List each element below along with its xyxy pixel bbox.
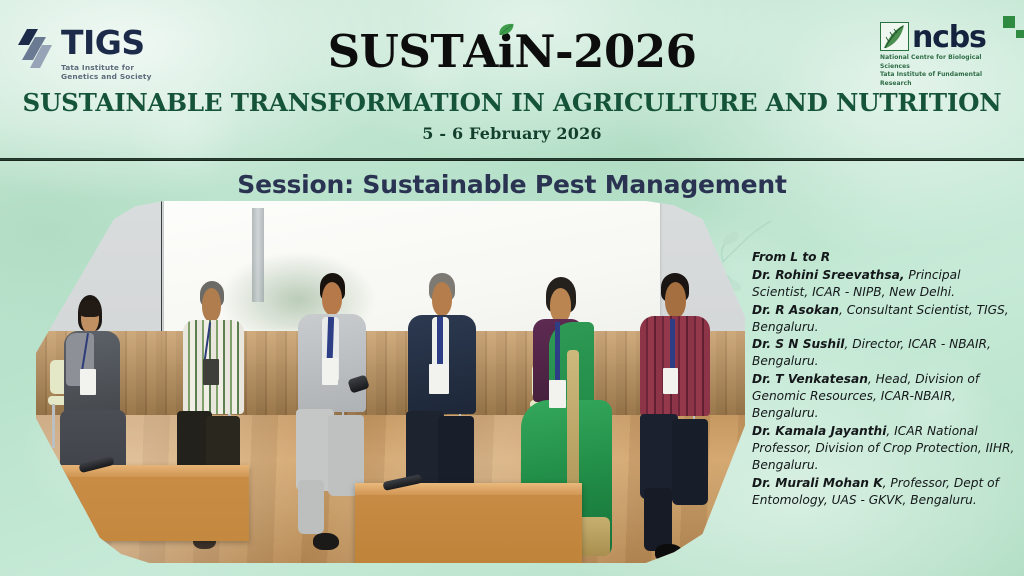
caption-entry: Dr. T Venkatesan, Head, Division of Geno…: [752, 371, 1020, 422]
caption-entry: Dr. Murali Mohan K, Professor, Dept of E…: [752, 475, 1020, 509]
caption-name: Dr. Kamala Jayanthi: [752, 424, 886, 438]
page-title: SUSTAiN-2026: [0, 25, 1024, 78]
panel-photograph: [36, 201, 745, 563]
caption-entry: Dr. S N Sushil, Director, ICAR - NBAIR, …: [752, 336, 1020, 370]
caption-entry: Dr. Kamala Jayanthi, ICAR National Profe…: [752, 423, 1020, 474]
caption-lead: From L to R: [752, 249, 1020, 266]
caption-name: Dr. S N Sushil: [752, 337, 844, 351]
main-title-pre: SUST: [328, 25, 464, 78]
photo-table: [355, 483, 582, 563]
caption-block: From L to R Dr. Rohini Sreevathsa, Princ…: [752, 249, 1020, 509]
caption-entry: Dr. R Asokan, Consultant Scientist, TIGS…: [752, 302, 1020, 336]
main-title-post: N-2026: [514, 25, 696, 78]
photo-panelist: [632, 273, 738, 559]
caption-name: Dr. Murali Mohan K: [752, 476, 883, 490]
caption-name: Dr. Rohini Sreevathsa,: [752, 268, 904, 282]
main-title-a: A: [463, 25, 497, 78]
caption-entry: Dr. Rohini Sreevathsa, Principal Scienti…: [752, 267, 1020, 301]
poster-root: TIGS Tata Institute for Genetics and Soc…: [0, 0, 1024, 576]
photo-table-top: [36, 465, 249, 477]
main-title-i-with-leaf: i: [498, 25, 515, 78]
caption-name: Dr. R Asokan: [752, 303, 839, 317]
header-divider: [0, 158, 1024, 161]
session-title: Session: Sustainable Pest Management: [0, 170, 1024, 199]
main-title-a-with-leaf: A: [463, 25, 497, 78]
event-dates: 5 - 6 February 2026: [0, 124, 1024, 143]
leaf-icon: [498, 23, 515, 37]
caption-name: Dr. T Venkatesan: [752, 372, 868, 386]
event-subtitle: SUSTAINABLE TRANSFORMATION IN AGRICULTUR…: [0, 88, 1024, 117]
